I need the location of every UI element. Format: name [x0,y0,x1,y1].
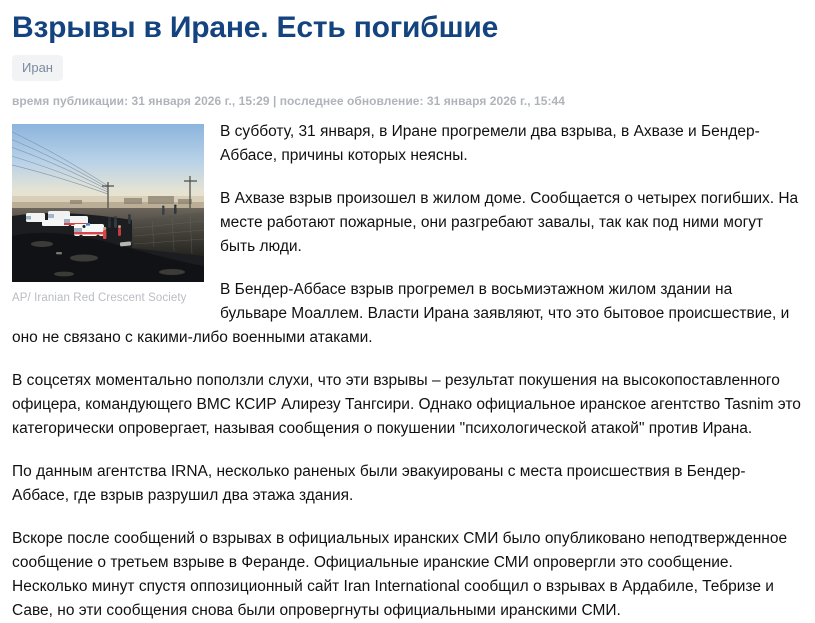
news-article: Взрывы в Иране. Есть погибшие Иран время… [0,0,815,623]
page-title: Взрывы в Иране. Есть погибшие [0,0,815,46]
article-paragraph: В соцсетях моментально поползли слухи, ч… [12,369,801,441]
article-paragraph: По данным агентства IRNA, несколько ране… [12,460,801,508]
article-paragraph: Вскоре после сообщений о взрывах в офици… [12,527,801,623]
article-body: AP/ Iranian Red Crescent Society В суббо… [0,108,815,623]
article-figure: AP/ Iranian Red Crescent Society [12,124,204,305]
article-timestamps: время публикации: 31 января 2026 г., 15:… [0,81,815,108]
tag-list: Иран [0,46,815,81]
tag-iran[interactable]: Иран [12,55,63,81]
article-photo [12,124,204,282]
photo-credit: AP/ Iranian Red Crescent Society [12,291,204,305]
